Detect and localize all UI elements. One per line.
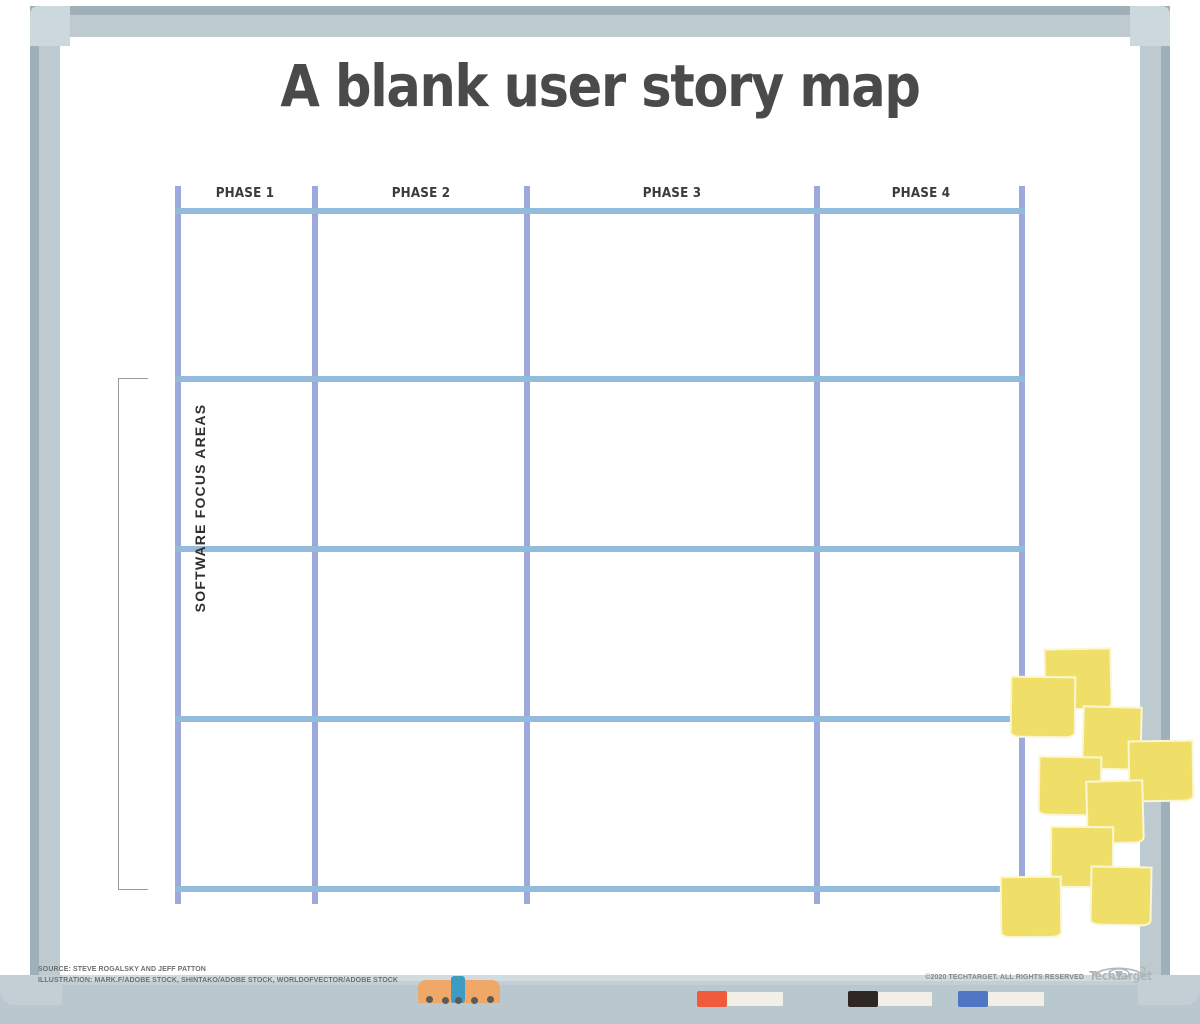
red-marker-cap: [697, 991, 727, 1007]
eraser-dot: [487, 996, 494, 1003]
sticky-note[interactable]: [1089, 865, 1152, 926]
eraser-dot: [426, 996, 433, 1003]
sticky-note[interactable]: [1010, 676, 1077, 739]
red-marker-body: [723, 992, 783, 1006]
techtarget-wordmark: TechTarget: [1089, 969, 1148, 983]
copyright-text: ©2020 TECHTARGET. ALL RIGHTS RESERVED: [925, 974, 1084, 981]
grid-row-line-3: [175, 716, 1025, 722]
grid-column-line-2: [524, 186, 530, 904]
eraser-dot: [455, 997, 462, 1004]
source-line: SOURCE: STEVE ROGALSKY AND JEFF PATTON: [38, 964, 398, 975]
blue-marker-body: [984, 992, 1044, 1006]
black-marker-body: [874, 992, 932, 1006]
grid-column-line-right: [1019, 186, 1025, 904]
source-credits: SOURCE: STEVE ROGALSKY AND JEFF PATTON I…: [38, 964, 398, 986]
story-map-grid: PHASE 1 PHASE 2 PHASE 3 PHASE 4 SOFTWARE…: [0, 0, 1200, 1024]
grid-row-line-1: [175, 376, 1025, 382]
phase-header-3: PHASE 3: [539, 186, 806, 201]
eraser-dot: [442, 997, 449, 1004]
illustration-line: ILLUSTRATION: MARK.F/ADOBE STOCK, SHINTA…: [38, 975, 398, 986]
grid-row-line-top: [175, 208, 1025, 214]
sticky-note[interactable]: [1000, 876, 1063, 939]
grid-column-line-left: [175, 186, 181, 904]
focus-areas-bracket: [118, 378, 148, 890]
phase-header-2: PHASE 2: [323, 186, 518, 201]
phase-header-4: PHASE 4: [825, 186, 1016, 201]
grid-row-line-2: [175, 546, 1025, 552]
grid-column-line-3: [814, 186, 820, 904]
black-marker-cap: [848, 991, 878, 1007]
grid-column-line-1: [312, 186, 318, 904]
grid-row-line-bottom: [175, 886, 1025, 892]
eraser-dot: [471, 997, 478, 1004]
blue-marker-cap: [958, 991, 988, 1007]
phase-header-1: PHASE 1: [181, 186, 310, 201]
focus-areas-label: SOFTWARE FOCUS AREAS: [192, 358, 208, 658]
